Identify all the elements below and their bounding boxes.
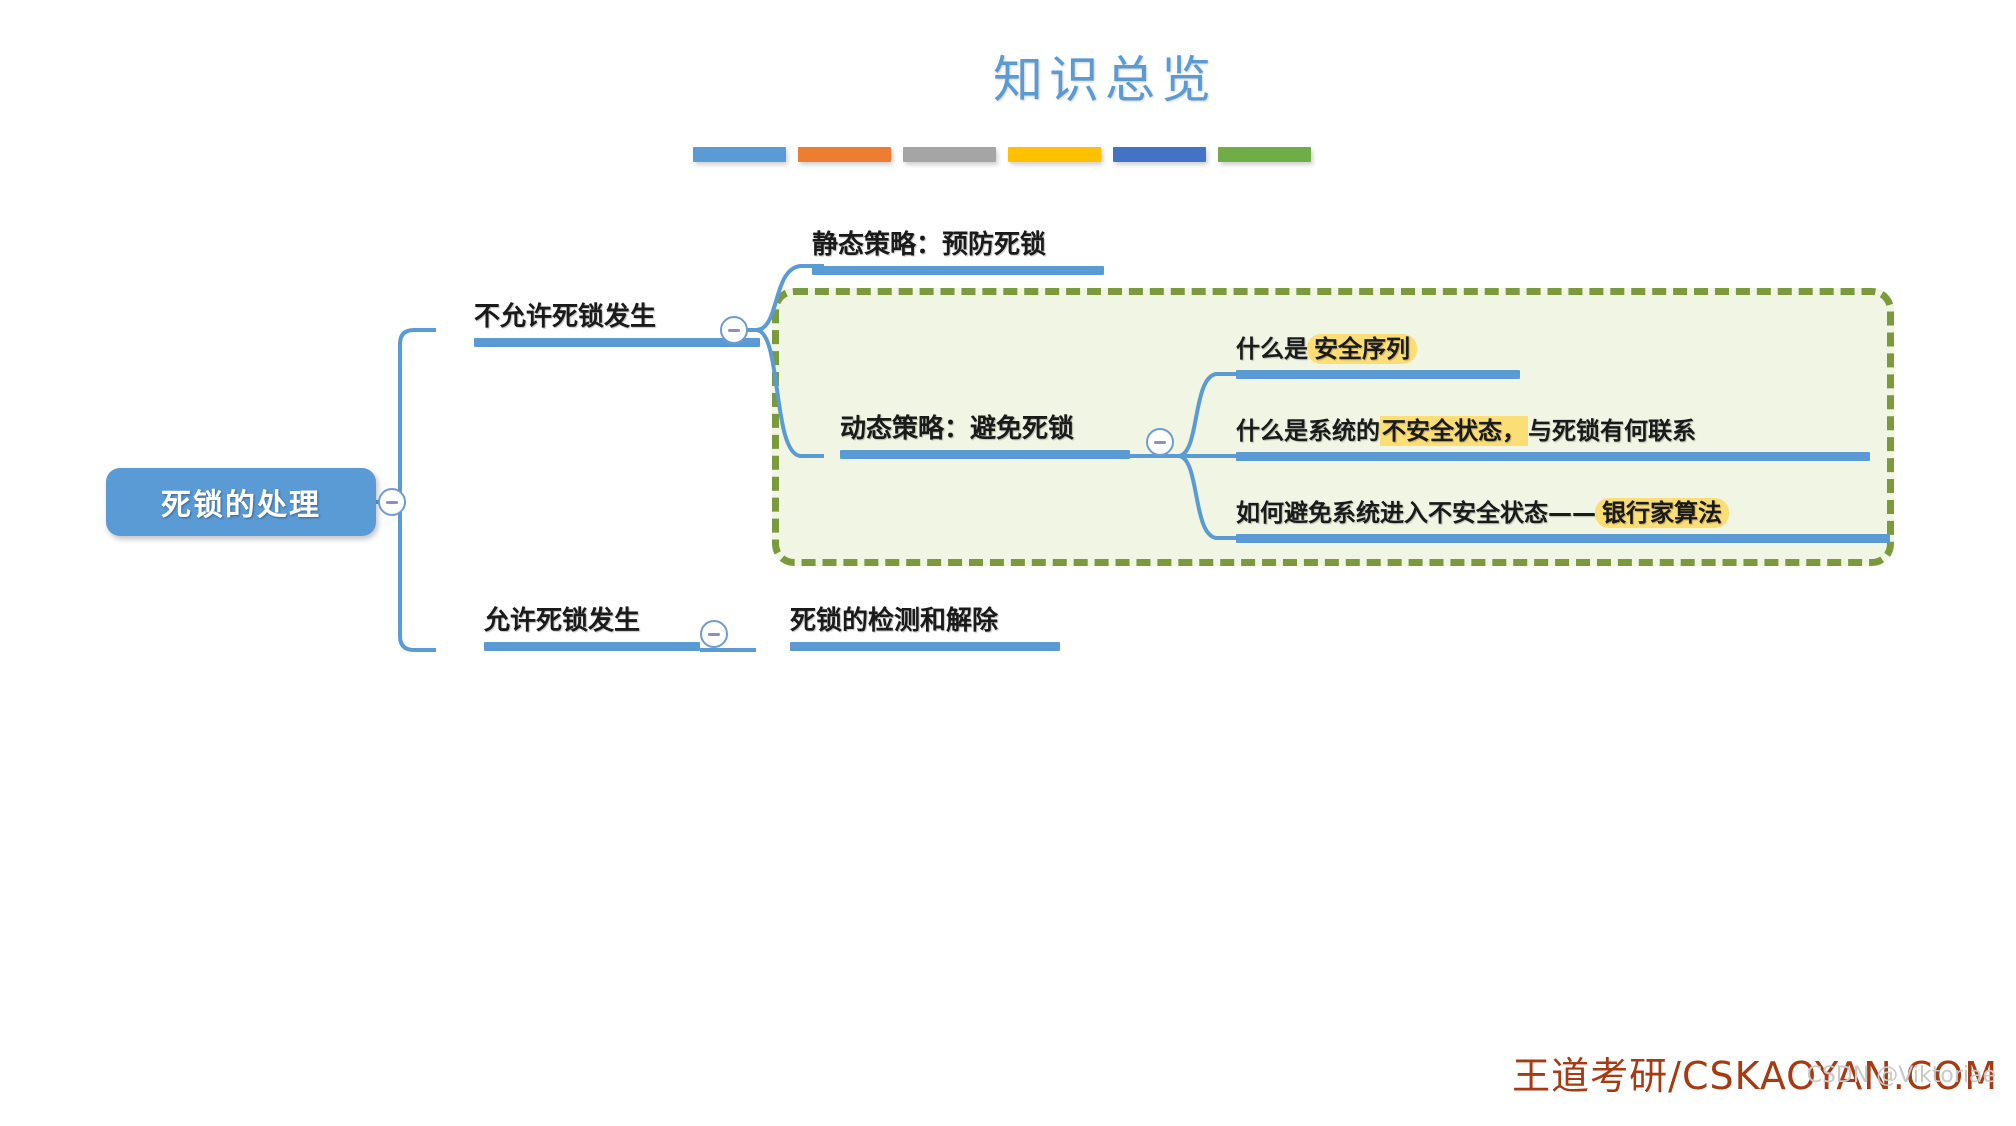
topic-static-strategy[interactable]: 静态策略：预防死锁 — [812, 228, 1104, 275]
leaf-text-prefix: 如何避免系统进入不安全状态—— — [1236, 499, 1596, 527]
leaf-text-highlight: 安全序列 — [1307, 334, 1417, 364]
topic-static-strategy-label: 静态策略：预防死锁 — [812, 228, 1104, 262]
topic-allow-deadlock-label: 允许死锁发生 — [484, 604, 700, 638]
topic-underline — [1236, 534, 1890, 543]
collapse-toggle-allow-deadlock[interactable] — [700, 620, 728, 648]
leaf-text-highlight: 不安全状态， — [1380, 416, 1528, 446]
topic-deadlock-detection-recovery[interactable]: 死锁的检测和解除 — [790, 604, 1060, 651]
root-node-deadlock-handling[interactable]: 死锁的处理 — [106, 468, 376, 536]
topic-underline — [1236, 452, 1870, 461]
topic-disallow-deadlock[interactable]: 不允许死锁发生 — [474, 300, 760, 347]
leaf-safe-sequence[interactable]: 什么是安全序列 — [1236, 332, 1520, 379]
leaf-unsafe-state[interactable]: 什么是系统的不安全状态，与死锁有何联系 — [1236, 414, 1870, 461]
leaf-text-prefix: 什么是系统的 — [1236, 417, 1380, 445]
csdn-watermark: CSDN @Viktoriae — [1807, 1063, 1996, 1088]
leaf-bankers-algorithm-label: 如何避免系统进入不安全状态——银行家算法 — [1236, 496, 1890, 530]
leaf-unsafe-state-label: 什么是系统的不安全状态，与死锁有何联系 — [1236, 414, 1870, 448]
topic-allow-deadlock[interactable]: 允许死锁发生 — [484, 604, 700, 651]
leaf-text-prefix: 什么是 — [1236, 335, 1308, 363]
root-node-label: 死锁的处理 — [161, 480, 321, 524]
collapse-toggle-root[interactable] — [378, 488, 406, 516]
topic-underline — [1236, 370, 1520, 379]
topic-underline — [840, 450, 1130, 459]
leaf-safe-sequence-label: 什么是安全序列 — [1236, 332, 1520, 366]
collapse-toggle-disallow-deadlock[interactable] — [720, 316, 748, 344]
topic-underline — [484, 642, 700, 651]
leaf-bankers-algorithm[interactable]: 如何避免系统进入不安全状态——银行家算法 — [1236, 496, 1890, 543]
topic-disallow-deadlock-label: 不允许死锁发生 — [474, 300, 760, 334]
topic-dynamic-strategy-label: 动态策略：避免死锁 — [840, 412, 1130, 446]
topic-underline — [474, 338, 760, 347]
mindmap-connectors — [0, 0, 2016, 1126]
topic-deadlock-detection-recovery-label: 死锁的检测和解除 — [790, 604, 1060, 638]
topic-dynamic-strategy[interactable]: 动态策略：避免死锁 — [840, 412, 1130, 459]
topic-underline — [790, 642, 1060, 651]
leaf-text-highlight: 银行家算法 — [1595, 498, 1729, 528]
slide-canvas: 知识总览 死锁的处理 不允许死锁发生 — [0, 0, 2016, 1126]
leaf-text-suffix: 与死锁有何联系 — [1528, 417, 1696, 445]
collapse-toggle-dynamic-strategy[interactable] — [1146, 428, 1174, 456]
topic-underline — [812, 266, 1104, 275]
